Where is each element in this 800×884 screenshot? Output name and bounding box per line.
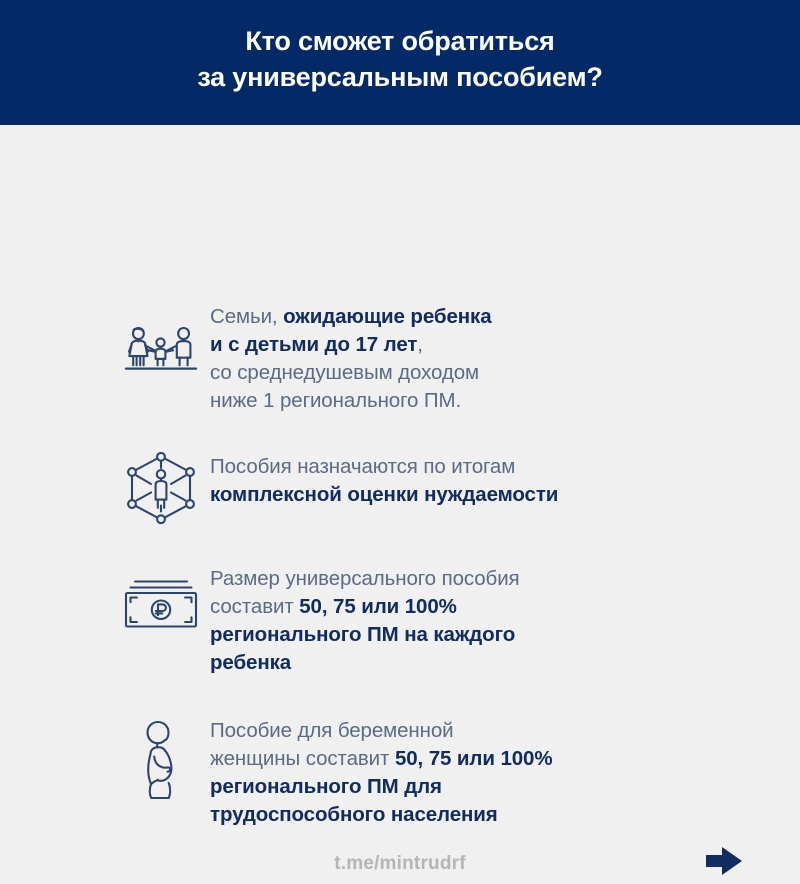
info-block-amount-text: Размер универсального пособия составит 5… (210, 563, 520, 677)
text-line: ниже 1 регионального ПМ. (210, 387, 492, 415)
pregnant-woman-icon (112, 715, 210, 803)
network-person-icon (112, 451, 210, 525)
text-line: ребенка (210, 649, 520, 677)
banknote-ruble-icon (112, 563, 210, 631)
text-line: со среднедушевым доходом (210, 359, 492, 387)
family-icon (112, 301, 210, 375)
text-line: трудоспособного населения (210, 801, 552, 829)
page-title-line-2: за универсальным пособием? (197, 60, 602, 96)
info-block-assessment-text: Пособия назначаются по итогам комплексно… (210, 451, 558, 509)
info-block-pregnancy: Пособие для беременной женщины составит … (112, 715, 552, 829)
page-title-line-1: Кто сможет обратиться (197, 24, 602, 60)
info-block-assessment: Пособия назначаются по итогам комплексно… (112, 451, 558, 525)
text-line: женщины составит 50, 75 или 100% (210, 745, 552, 773)
info-block-amount: Размер универсального пособия составит 5… (112, 563, 520, 677)
text-line: Семьи, ожидающие ребенка (210, 303, 492, 331)
text-line: регионального ПМ для (210, 773, 552, 801)
header-banner: Кто сможет обратиться за универсальным п… (0, 0, 800, 125)
text-line: регионального ПМ на каждого (210, 621, 520, 649)
content-area: Семьи, ожидающие ребенка и с детьми до 1… (0, 125, 800, 800)
info-block-pregnancy-text: Пособие для беременной женщины составит … (210, 715, 552, 829)
telegram-handle[interactable]: t.me/mintrudrf (0, 853, 800, 875)
text-line: комплексной оценки нуждаемости (210, 481, 558, 509)
arrow-right-icon[interactable] (702, 843, 746, 879)
text-line: Пособие для беременной (210, 717, 552, 745)
text-line: составит 50, 75 или 100% (210, 593, 520, 621)
text-line: Размер универсального пособия (210, 565, 520, 593)
info-block-family: Семьи, ожидающие ребенка и с детьми до 1… (112, 301, 492, 415)
text-line: и с детьми до 17 лет, (210, 331, 492, 359)
info-block-family-text: Семьи, ожидающие ребенка и с детьми до 1… (210, 301, 492, 415)
text-line: Пособия назначаются по итогам (210, 453, 558, 481)
page-title: Кто сможет обратиться за универсальным п… (197, 24, 602, 95)
